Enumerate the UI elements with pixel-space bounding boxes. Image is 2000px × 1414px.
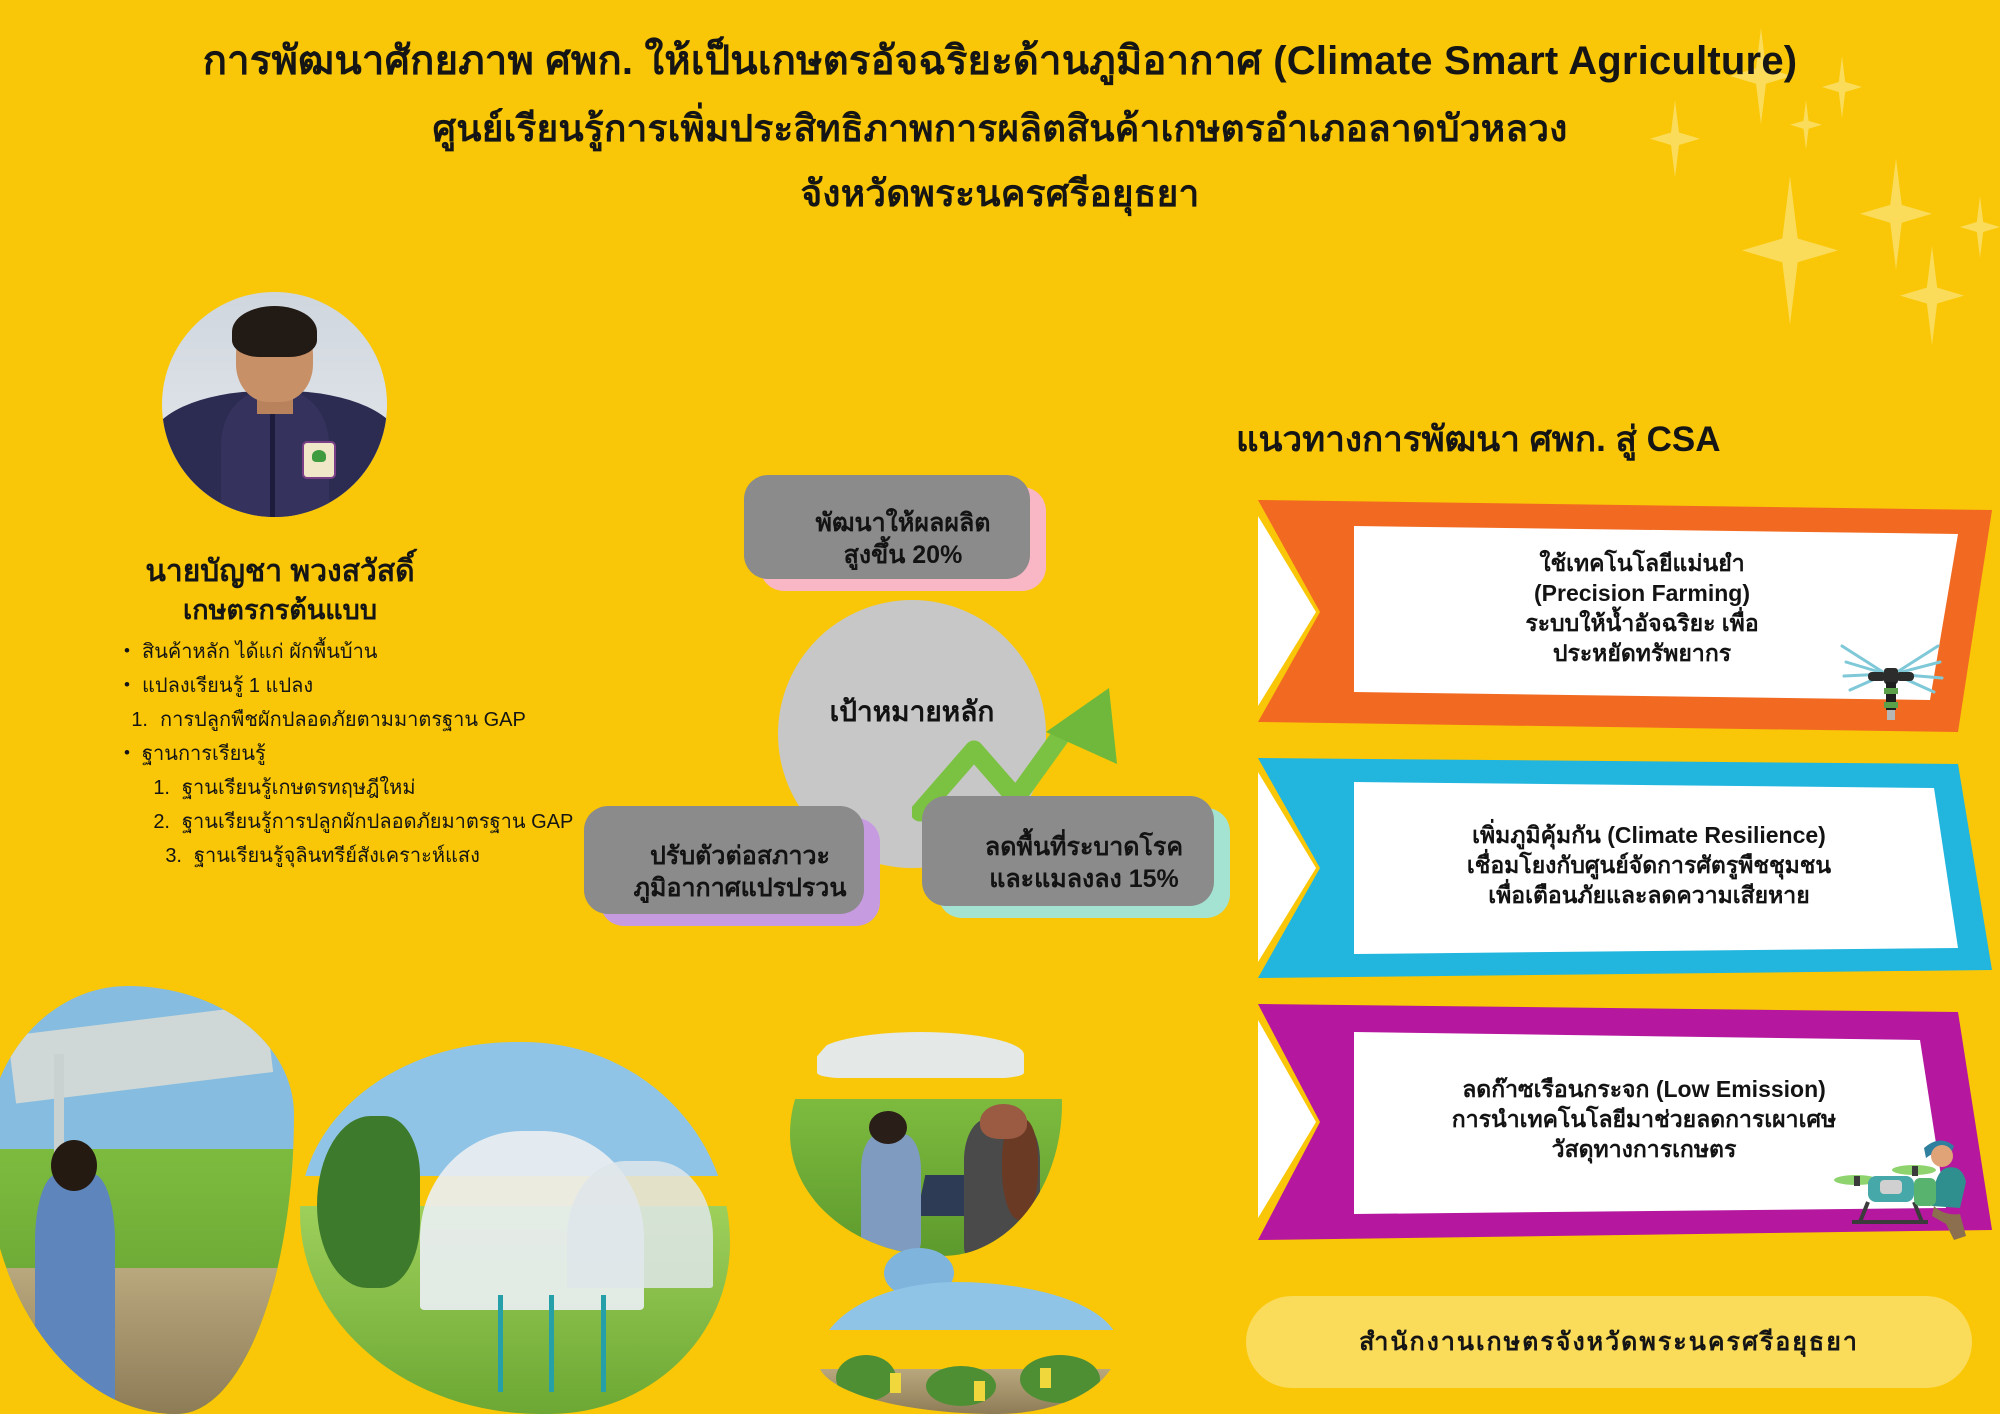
goal-box-adaptation: ปรับตัวต่อสภาวะ ภูมิอากาศแปรปรวน: [600, 818, 880, 926]
goal-box-pest-reduction-text: ลดพื้นที่ระบาดโรค และแมลงลง 15%: [985, 831, 1183, 895]
csa-approach-item-3: ลดก๊าซเรือนกระจก (Low Emission) การนำเทค…: [1258, 1004, 1992, 1240]
poster-canvas: การพัฒนาศักยภาพ ศพก. ให้เป็นเกษตรอัจฉริย…: [0, 0, 2000, 1414]
list-item: 1.การปลูกพืชผักปลอดภัยตามมาตรฐาน GAP: [106, 708, 626, 733]
avatar-shirt-placket: [270, 396, 275, 518]
list-item: •แปลงเรียนรู้ 1 แปลง: [88, 674, 626, 699]
bullet-marker: •: [88, 742, 142, 763]
photo-shade-house-with-farmer: [0, 986, 294, 1414]
goal-box-yield-text: พัฒนาให้ผลผลิต สูงขึ้น 20%: [815, 507, 990, 571]
photo-greenhouse-secondary: [567, 1161, 713, 1287]
photo-sticky-trap: [890, 1373, 901, 1393]
csa-approach-item-1: ใช้เทคโนโลยีแม่นยำ (Precision Farming) ร…: [1258, 500, 1992, 732]
list-item: 3.ฐานเรียนรู้จุลินทรีย์สังเคราะห์แสง: [140, 844, 626, 869]
photo-farmer-head: [869, 1111, 907, 1144]
photo-farmer: [861, 1134, 921, 1251]
photo-palm-tree: [317, 1116, 420, 1287]
bullet-marker: •: [88, 674, 142, 695]
number-marker: 2.: [128, 810, 182, 835]
list-item: 2.ฐานเรียนรู้การปลูกผักปลอดภัยมาตรฐาน GA…: [128, 810, 626, 835]
list-item-label: สินค้าหลัก ได้แก่ ผักพื้นบ้าน: [142, 640, 626, 665]
list-item: •ฐานการเรียนรู้: [88, 742, 626, 767]
csa-approach-text-2: เพิ่มภูมิคุ้มกัน (Climate Resilience) เช…: [1354, 782, 1944, 950]
photo-bush: [836, 1355, 896, 1401]
avatar: [162, 292, 387, 517]
photo-sky: [818, 1282, 1118, 1330]
photo-person-head: [51, 1140, 97, 1191]
title-line-2: ศูนย์เรียนรู้การเพิ่มประสิทธิภาพการผลิตส…: [0, 108, 2000, 151]
photo-stake: [601, 1295, 606, 1392]
list-item-label: ฐานเรียนรู้เกษตรทฤษฎีใหม่: [182, 776, 626, 801]
title-line-3: จังหวัดพระนครศรีอยุธยา: [0, 173, 2000, 216]
list-item-label: ฐานเรียนรู้จุลินทรีย์สังเคราะห์แสง: [194, 844, 626, 869]
csa-approach-item-2: เพิ่มภูมิคุ้มกัน (Climate Resilience) เช…: [1258, 758, 1992, 978]
photo-greenhouse-field: [300, 1042, 730, 1414]
list-item-label: การปลูกพืชผักปลอดภัยตามมาตรฐาน GAP: [160, 708, 626, 733]
photo-sticky-trap: [1040, 1368, 1051, 1388]
goal-box-adaptation-text: ปรับตัวต่อสภาวะ ภูมิอากาศแปรปรวน: [634, 840, 847, 904]
photo-sticky-trap: [974, 1381, 985, 1401]
drone-operator-icon: [1828, 1118, 1978, 1248]
photo-visitor-hat: [980, 1104, 1026, 1140]
number-marker: 3.: [140, 844, 194, 869]
profile-role: เกษตรกรต้นแบบ: [40, 588, 520, 631]
page-title: การพัฒนาศักยภาพ ศพก. ให้เป็นเกษตรอัจฉริย…: [0, 38, 2000, 216]
list-item-label: ฐานเรียนรู้การปลูกผักปลอดภัยมาตรฐาน GAP: [182, 810, 626, 835]
photo-canopy: [817, 1032, 1024, 1078]
list-item: •สินค้าหลัก ได้แก่ ผักพื้นบ้าน: [88, 640, 626, 665]
list-item-label: ฐานการเรียนรู้: [142, 742, 626, 767]
sparkle-icon: [1900, 246, 1964, 345]
photo-bush: [926, 1366, 996, 1406]
number-marker: 1.: [106, 708, 160, 733]
number-marker: 1.: [128, 776, 182, 801]
right-section-heading: แนวทางการพัฒนา ศพก. สู่ CSA: [1236, 412, 1721, 467]
title-line-1: การพัฒนาศักยภาพ ศพก. ให้เป็นเกษตรอัจฉริย…: [0, 38, 2000, 84]
photo-dragon-fruit-plot: [818, 1282, 1118, 1414]
goal-box-yield: พัฒนาให้ผลผลิต สูงขึ้น 20%: [760, 487, 1046, 591]
list-item-label: แปลงเรียนรู้ 1 แปลง: [142, 674, 626, 699]
photo-farmer-interview: [790, 1002, 1062, 1256]
footer-banner-text: สำนักงานเกษตรจังหวัดพระนครศรีอยุธยา: [1359, 1322, 1859, 1362]
photo-person: [35, 1174, 115, 1414]
sprinkler-icon: [1830, 612, 1950, 722]
photo-stake: [549, 1295, 554, 1392]
photo-stake: [498, 1295, 503, 1392]
footer-banner: สำนักงานเกษตรจังหวัดพระนครศรีอยุธยา: [1246, 1296, 1972, 1388]
list-item: 1.ฐานเรียนรู้เกษตรทฤษฎีใหม่: [128, 776, 626, 801]
avatar-hair: [232, 306, 318, 358]
goal-box-pest-reduction: ลดพื้นที่ระบาดโรค และแมลงลง 15%: [938, 808, 1230, 918]
avatar-uniform-badge-icon: [302, 441, 336, 479]
bullet-marker: •: [88, 640, 142, 661]
profile-details-list: •สินค้าหลัก ได้แก่ ผักพื้นบ้าน•แปลงเรียน…: [106, 640, 626, 878]
goal-circle-label: เป้าหมายหลัก: [778, 690, 1046, 734]
